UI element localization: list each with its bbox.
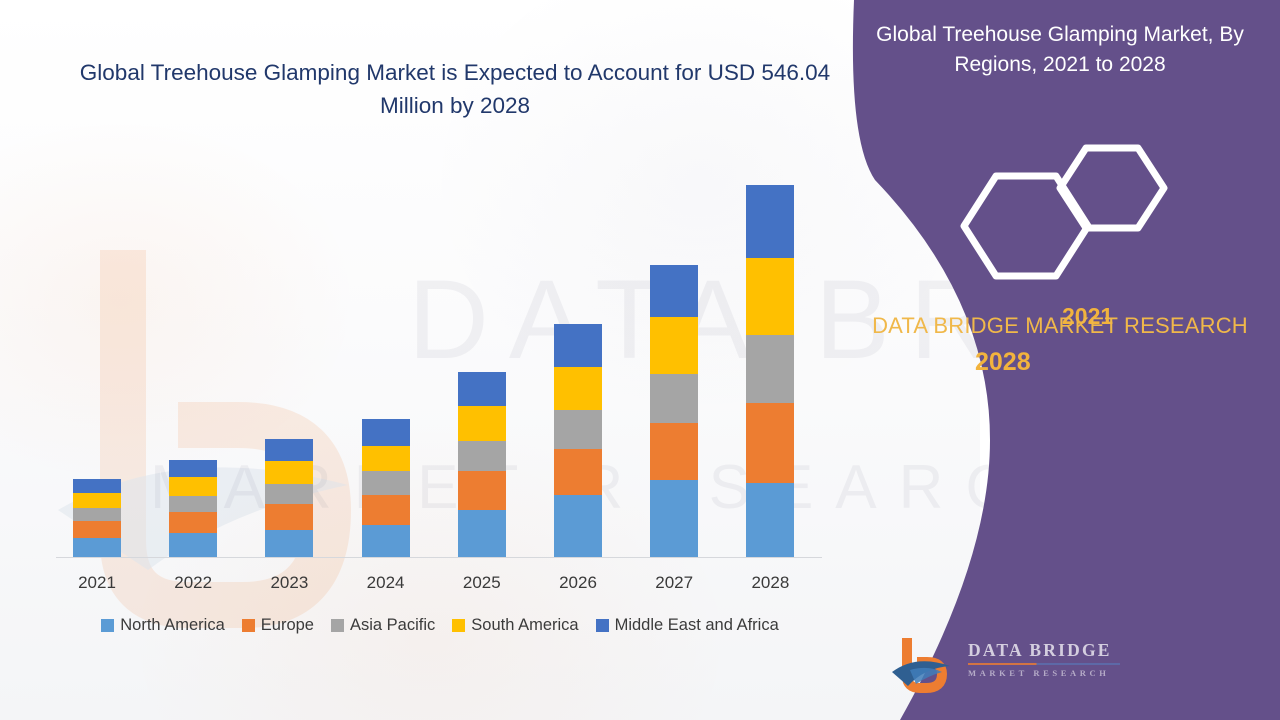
bar-segment-2028-middle-east-and-africa[interactable] bbox=[746, 185, 794, 258]
logo-line-1: DATA BRIDGE bbox=[968, 640, 1128, 661]
bar-2024[interactable] bbox=[362, 419, 410, 557]
bar-segment-2027-south-america[interactable] bbox=[650, 317, 698, 375]
bar-segment-2022-asia-pacific[interactable] bbox=[169, 496, 217, 512]
logo-line-2: MARKET RESEARCH bbox=[968, 668, 1128, 678]
infographic-canvas: DATA BRIDGE MARKET RESEARCH Global Treeh… bbox=[0, 0, 1280, 720]
bar-segment-2022-north-america[interactable] bbox=[169, 533, 217, 557]
bar-segment-2028-south-america[interactable] bbox=[746, 258, 794, 335]
x-axis-label-2028: 2028 bbox=[725, 573, 815, 593]
bar-2021[interactable] bbox=[73, 479, 121, 557]
bar-segment-2021-europe[interactable] bbox=[73, 521, 121, 538]
bar-segment-2026-europe[interactable] bbox=[554, 449, 602, 495]
panel-title: Global Treehouse Glamping Market, By Reg… bbox=[860, 20, 1260, 80]
bar-segment-2028-asia-pacific[interactable] bbox=[746, 335, 794, 403]
bar-segment-2025-europe[interactable] bbox=[458, 471, 506, 510]
bar-segment-2021-middle-east-and-africa[interactable] bbox=[73, 479, 121, 493]
bar-segment-2025-middle-east-and-africa[interactable] bbox=[458, 372, 506, 406]
x-axis-label-2025: 2025 bbox=[437, 573, 527, 593]
company-logo: DATA BRIDGE MARKET RESEARCH bbox=[890, 632, 1120, 702]
bar-segment-2022-europe[interactable] bbox=[169, 512, 217, 533]
legend-label: Europe bbox=[261, 616, 314, 635]
year-hexagons: 2021 2028 bbox=[950, 130, 1180, 290]
bar-segment-2027-middle-east-and-africa[interactable] bbox=[650, 265, 698, 316]
bar-segment-2025-north-america[interactable] bbox=[458, 510, 506, 557]
hexagon-outlines bbox=[950, 130, 1180, 290]
legend-label: Middle East and Africa bbox=[615, 616, 779, 635]
brand-panel: Global Treehouse Glamping Market, By Reg… bbox=[840, 0, 1280, 720]
bar-segment-2024-north-america[interactable] bbox=[362, 525, 410, 557]
bar-2027[interactable] bbox=[650, 265, 698, 557]
x-axis-label-2026: 2026 bbox=[533, 573, 623, 593]
bar-2028[interactable] bbox=[746, 185, 794, 557]
x-axis-label-2021: 2021 bbox=[52, 573, 142, 593]
bar-segment-2027-asia-pacific[interactable] bbox=[650, 374, 698, 422]
legend-swatch-icon bbox=[242, 619, 255, 632]
bar-2022[interactable] bbox=[169, 460, 217, 557]
bar-segment-2026-asia-pacific[interactable] bbox=[554, 410, 602, 449]
bar-segment-2023-north-america[interactable] bbox=[265, 530, 313, 557]
logo-wordmark: DATA BRIDGE MARKET RESEARCH bbox=[968, 640, 1128, 678]
legend-swatch-icon bbox=[452, 619, 465, 632]
x-axis-label-2023: 2023 bbox=[244, 573, 334, 593]
bar-2023[interactable] bbox=[265, 439, 313, 558]
bar-segment-2027-north-america[interactable] bbox=[650, 480, 698, 557]
bar-segment-2023-south-america[interactable] bbox=[265, 461, 313, 484]
x-axis-label-2027: 2027 bbox=[629, 573, 719, 593]
legend-label: Asia Pacific bbox=[350, 616, 435, 635]
bar-segment-2021-north-america[interactable] bbox=[73, 538, 121, 557]
legend-item-north-america[interactable]: North America bbox=[101, 616, 225, 635]
legend-label: South America bbox=[471, 616, 578, 635]
bar-segment-2022-middle-east-and-africa[interactable] bbox=[169, 460, 217, 477]
bar-segment-2025-south-america[interactable] bbox=[458, 406, 506, 441]
brand-name: DATA BRIDGE MARKET RESEARCH bbox=[860, 310, 1260, 342]
bar-segment-2028-europe[interactable] bbox=[746, 403, 794, 483]
stacked-bar-chart: 20212022202320242025202620272028 bbox=[0, 0, 980, 720]
legend-item-middle-east-and-africa[interactable]: Middle East and Africa bbox=[596, 616, 779, 635]
bar-2025[interactable] bbox=[458, 372, 506, 557]
bar-segment-2024-europe[interactable] bbox=[362, 495, 410, 525]
hexagon-year-end: 2028 bbox=[975, 348, 1031, 377]
bar-segment-2021-asia-pacific[interactable] bbox=[73, 508, 121, 521]
bar-segment-2023-asia-pacific[interactable] bbox=[265, 484, 313, 504]
x-axis-line bbox=[56, 557, 822, 558]
chart-legend: North AmericaEuropeAsia PacificSouth Ame… bbox=[50, 616, 830, 635]
bar-segment-2022-south-america[interactable] bbox=[169, 477, 217, 496]
legend-swatch-icon bbox=[596, 619, 609, 632]
purple-panel-shape bbox=[840, 0, 1280, 720]
data-bridge-logo-icon bbox=[890, 632, 962, 698]
bar-segment-2021-south-america[interactable] bbox=[73, 493, 121, 508]
bar-segment-2026-middle-east-and-africa[interactable] bbox=[554, 324, 602, 367]
legend-item-asia-pacific[interactable]: Asia Pacific bbox=[331, 616, 435, 635]
legend-label: North America bbox=[120, 616, 225, 635]
bar-segment-2024-south-america[interactable] bbox=[362, 446, 410, 471]
x-axis-label-2022: 2022 bbox=[148, 573, 238, 593]
bar-segment-2023-middle-east-and-africa[interactable] bbox=[265, 439, 313, 461]
bar-segment-2025-asia-pacific[interactable] bbox=[458, 441, 506, 471]
legend-item-europe[interactable]: Europe bbox=[242, 616, 314, 635]
bar-segment-2024-asia-pacific[interactable] bbox=[362, 471, 410, 495]
bar-segment-2027-europe[interactable] bbox=[650, 423, 698, 480]
bar-segment-2026-south-america[interactable] bbox=[554, 367, 602, 410]
bar-segment-2028-north-america[interactable] bbox=[746, 483, 794, 557]
logo-divider bbox=[968, 663, 1120, 665]
legend-swatch-icon bbox=[101, 619, 114, 632]
bar-segment-2023-europe[interactable] bbox=[265, 504, 313, 530]
bar-2026[interactable] bbox=[554, 324, 602, 557]
legend-item-south-america[interactable]: South America bbox=[452, 616, 578, 635]
bar-segment-2024-middle-east-and-africa[interactable] bbox=[362, 419, 410, 446]
x-axis-label-2024: 2024 bbox=[341, 573, 431, 593]
legend-swatch-icon bbox=[331, 619, 344, 632]
bar-segment-2026-north-america[interactable] bbox=[554, 495, 602, 557]
